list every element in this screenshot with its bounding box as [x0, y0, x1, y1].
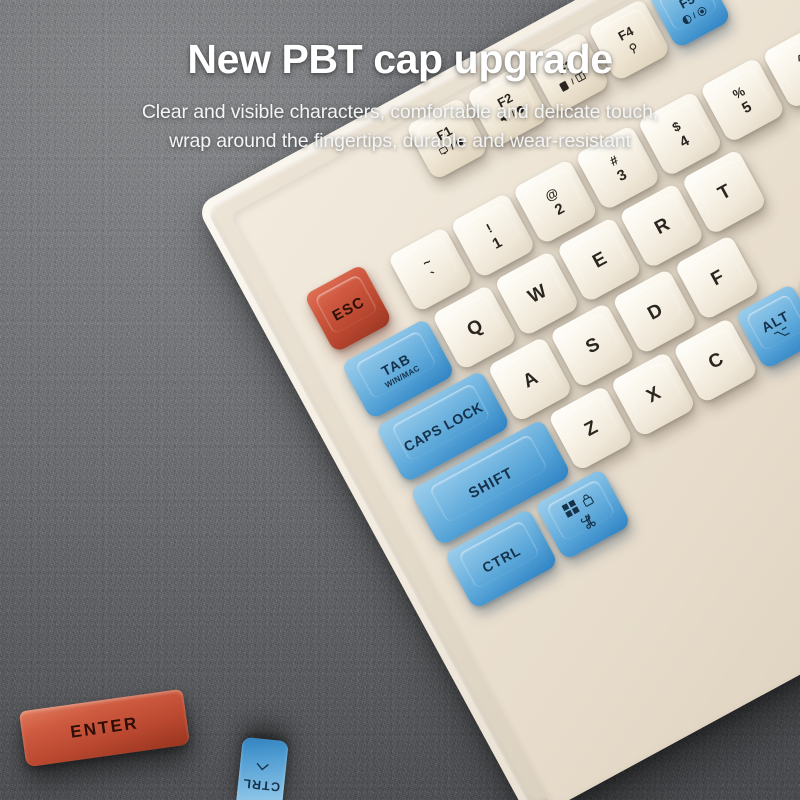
loose-keycap-ctrl[interactable]: CTRL	[235, 737, 288, 800]
control-caret-icon	[256, 759, 270, 774]
windows-icon	[561, 500, 580, 519]
key-escape[interactable]: ESC	[304, 264, 393, 353]
lock-icon	[580, 492, 595, 507]
page-subtitle: Clear and visible characters, comfortabl…	[0, 98, 800, 155]
command-icon	[578, 513, 598, 534]
marketing-copy: New PBT cap upgrade Clear and visible ch…	[0, 38, 800, 155]
subtitle-line-1: Clear and visible characters, comfortabl…	[0, 98, 800, 126]
banner-stage: F1 / F2 /	[0, 0, 800, 800]
escape-row: ESC	[304, 264, 393, 353]
subtitle-line-2: wrap around the fingertips, durable and …	[0, 127, 800, 155]
page-title: New PBT cap upgrade	[0, 38, 800, 81]
